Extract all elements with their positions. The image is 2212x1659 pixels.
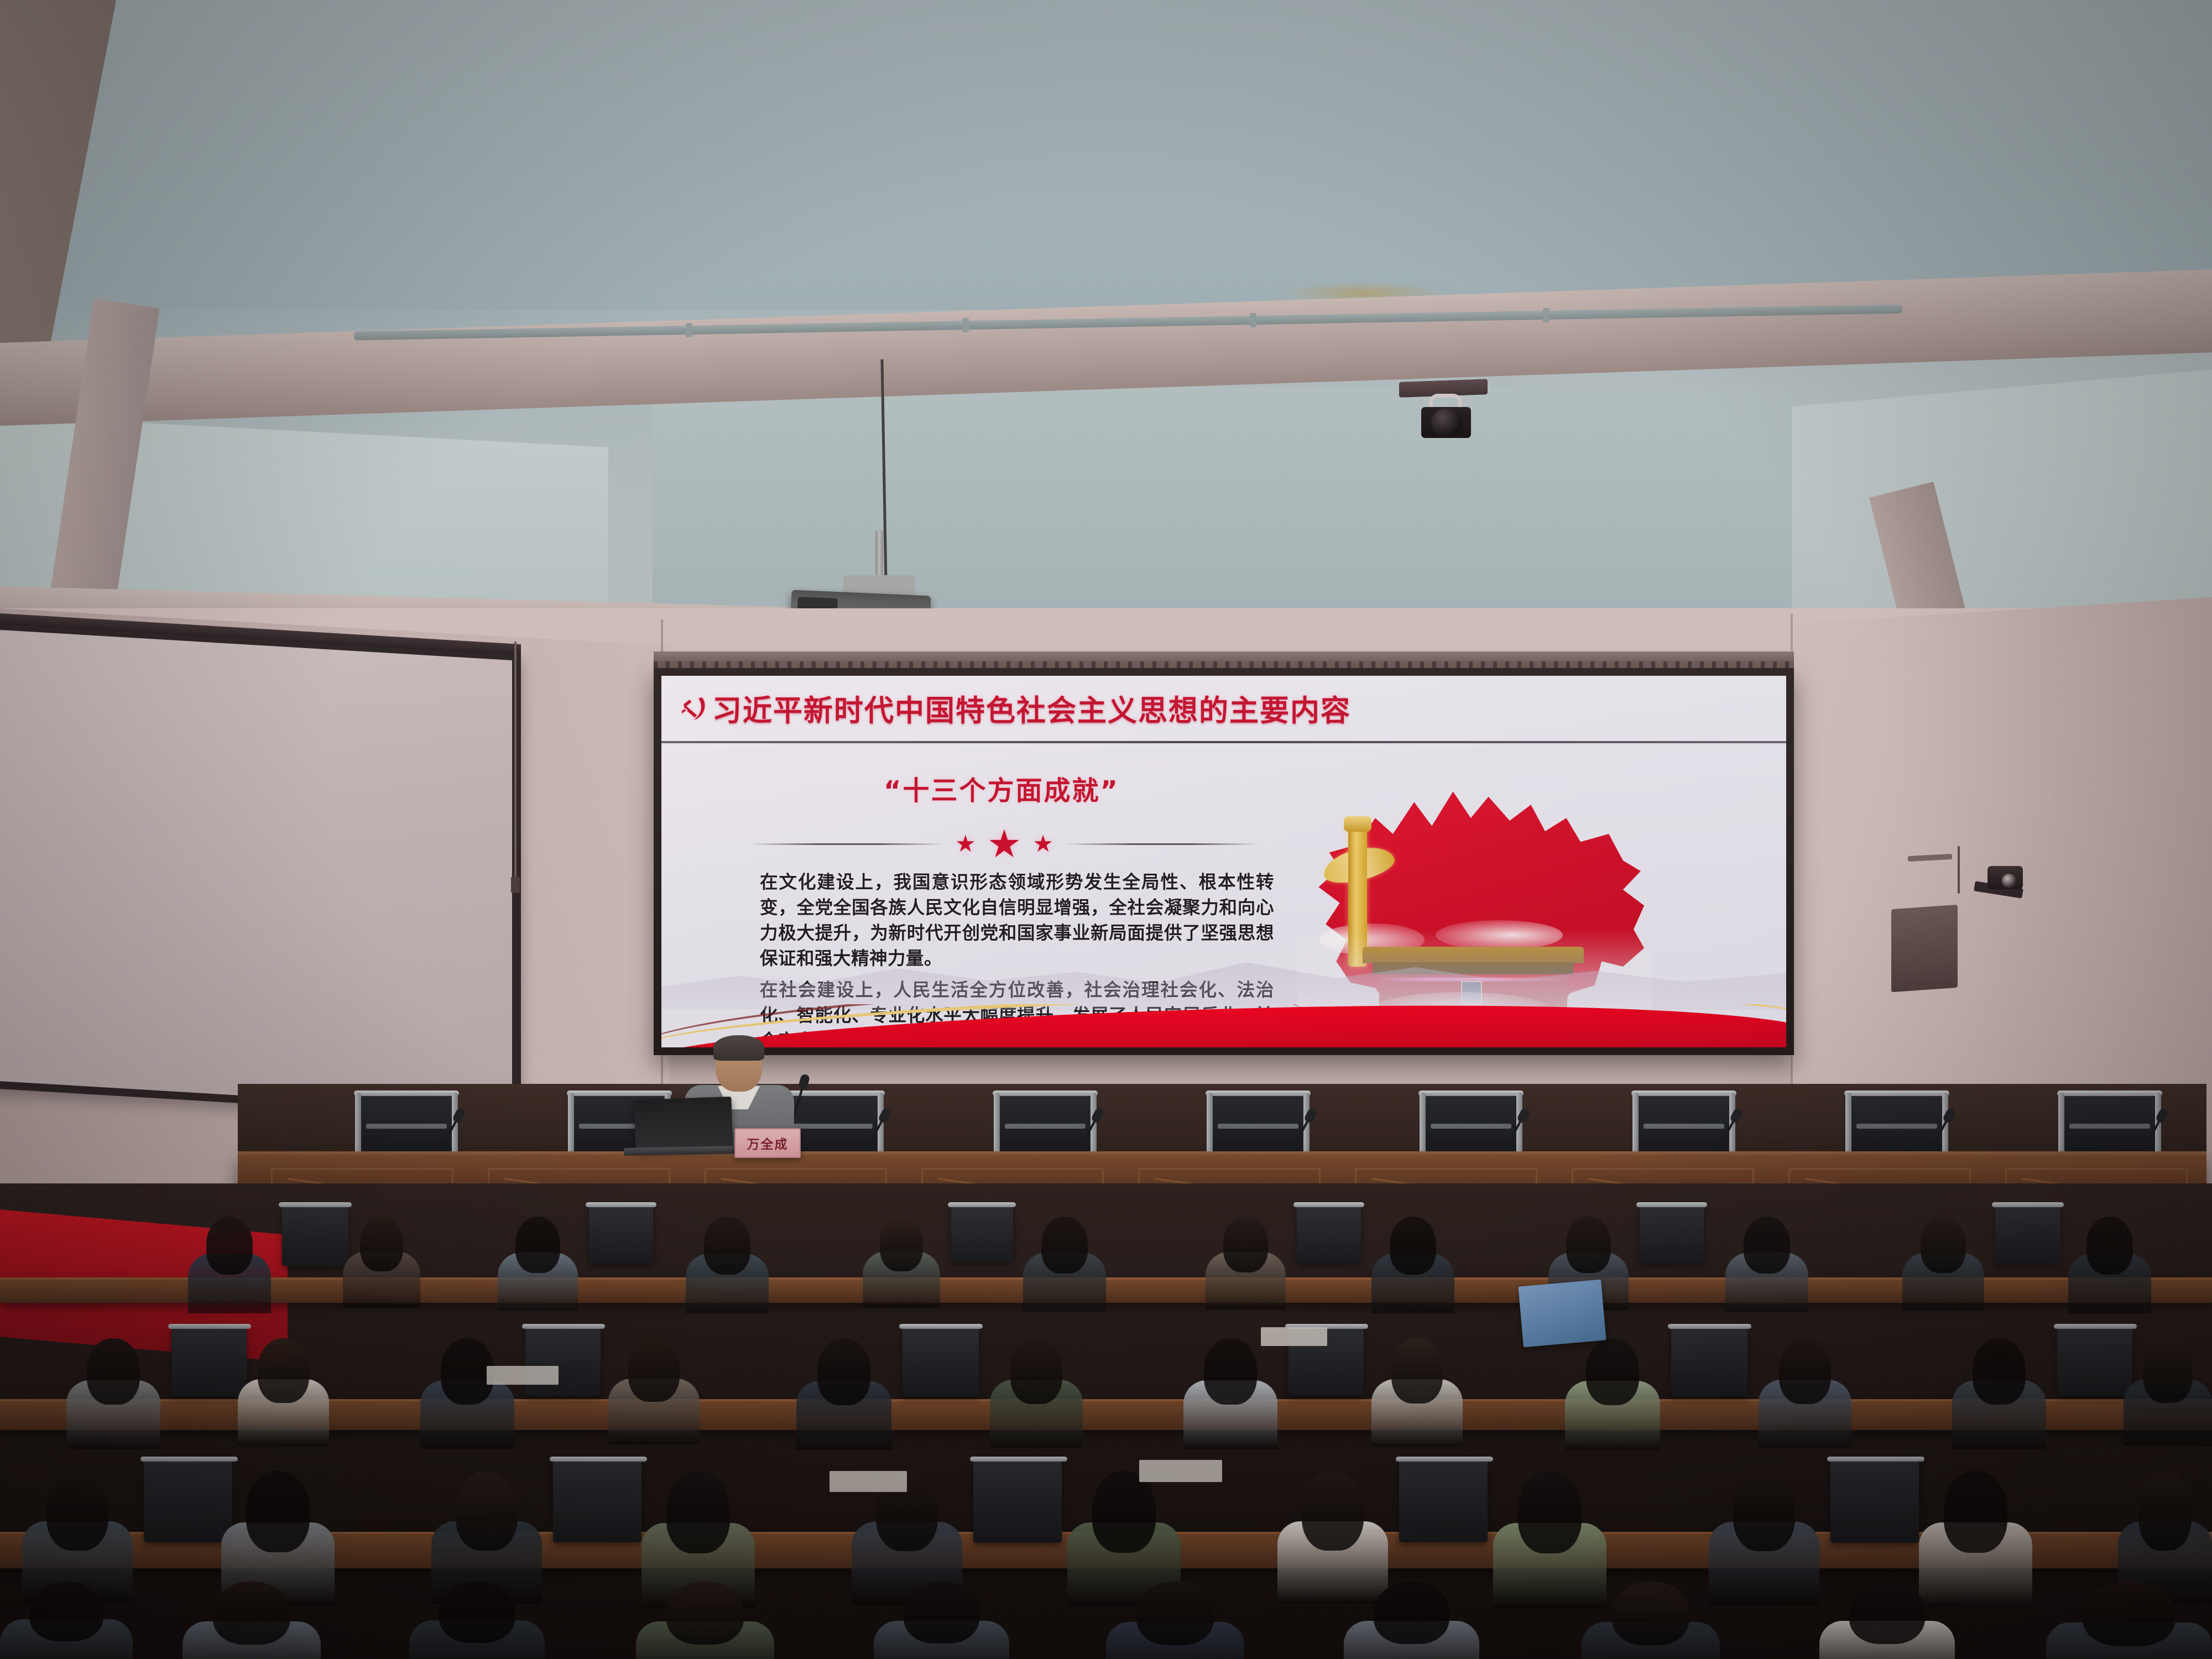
audience-member xyxy=(796,1338,891,1450)
audience-seat-bar xyxy=(168,1324,251,1329)
divider-line-left xyxy=(750,843,944,845)
chair-frame xyxy=(993,1091,1098,1096)
chair-back xyxy=(1851,1094,1943,1151)
audience-member-head xyxy=(1849,1582,1925,1644)
chair-frame xyxy=(1631,1091,1736,1096)
divider-line-right xyxy=(1065,843,1259,845)
audience-member-head xyxy=(1041,1217,1088,1274)
audience-seat-back[interactable] xyxy=(973,1460,1062,1543)
audience-member-head xyxy=(1779,1338,1831,1404)
audience-seat-bar xyxy=(970,1457,1067,1462)
audience-member-head xyxy=(1391,1338,1442,1404)
audience-member-head xyxy=(666,1582,744,1645)
audience-seat-bar xyxy=(899,1324,983,1329)
slide-title: 习近平新时代中国特色社会主义思想的主要内容 xyxy=(712,687,1351,729)
chair-band xyxy=(2069,1124,2150,1129)
audience-member-head xyxy=(258,1338,309,1403)
lecture-hall-scene: 习近平新时代中国特色社会主义思想的主要内容 “十三个方面成就” ★ ★ ★ 在文… xyxy=(0,0,2212,1659)
audience-member-head xyxy=(880,1217,923,1271)
audience-member-head xyxy=(904,1582,979,1644)
audience-member xyxy=(2124,1338,2212,1446)
presentation-slide[interactable]: 习近平新时代中国特色社会主义思想的主要内容 “十三个方面成就” ★ ★ ★ 在文… xyxy=(661,676,1786,1047)
audience-member xyxy=(238,1338,329,1446)
wall-vent xyxy=(1891,905,1958,992)
audience-seat-bar xyxy=(522,1324,605,1329)
audience-member xyxy=(409,1582,545,1659)
audience-member-head xyxy=(360,1217,403,1271)
chair-frame xyxy=(354,1091,459,1096)
audience-member-head xyxy=(1744,1217,1790,1274)
chair-back xyxy=(999,1094,1091,1151)
audience-member-head xyxy=(1586,1338,1639,1405)
paper-sheet xyxy=(487,1366,559,1385)
chair-band xyxy=(1856,1124,1937,1129)
audience-seat-back[interactable] xyxy=(525,1327,601,1396)
paper-sheet xyxy=(830,1471,907,1492)
audience-member-head xyxy=(1612,1582,1689,1645)
audience-laptop[interactable] xyxy=(1518,1280,1606,1348)
audience-member-head xyxy=(1092,1471,1156,1553)
wall-camera-lens-icon xyxy=(2002,874,2016,888)
slide-ribbon xyxy=(661,1004,1786,1047)
chair-post-left xyxy=(994,1093,1000,1154)
chair-back xyxy=(1425,1094,1517,1151)
chair-band xyxy=(1218,1124,1298,1129)
audience-member-head xyxy=(2143,1338,2193,1403)
audience-member xyxy=(1902,1217,1984,1311)
audience-member xyxy=(2046,1582,2212,1659)
chair-post-left xyxy=(355,1093,361,1154)
chair-back xyxy=(361,1094,452,1151)
chair-post-left xyxy=(568,1093,574,1154)
audience-member xyxy=(1725,1217,1808,1312)
audience-member-head xyxy=(1566,1217,1611,1273)
roll-down-projection-screen[interactable] xyxy=(0,624,521,1120)
audience-member xyxy=(1183,1338,1277,1449)
chair-band xyxy=(792,1124,873,1129)
audience-member-head xyxy=(704,1217,750,1275)
projection-screen-pull-handle[interactable] xyxy=(511,877,520,893)
audience-seat-bar xyxy=(1668,1324,1751,1329)
audience-member-head xyxy=(206,1217,253,1275)
audience-member-head xyxy=(1136,1582,1214,1645)
audience-seat-bar xyxy=(140,1457,238,1462)
audience-member-head xyxy=(2083,1582,2176,1646)
chair-frame xyxy=(567,1091,672,1096)
slide-subtitle: “十三个方面成就” xyxy=(744,769,1259,807)
chair-band xyxy=(1005,1124,1086,1129)
audience-seat-back[interactable] xyxy=(1640,1206,1704,1264)
audience-member-head xyxy=(441,1338,493,1405)
audience-member xyxy=(1819,1582,1955,1659)
star-small-left: ★ xyxy=(955,832,976,855)
audience-member-head xyxy=(1518,1471,1582,1553)
chair-band xyxy=(1431,1124,1511,1129)
name-placard-text: 万全成 xyxy=(747,1134,789,1152)
cpc-hammer-sickle-icon xyxy=(676,690,712,727)
audience-seat-back[interactable] xyxy=(1399,1460,1488,1542)
audience-seat-back[interactable] xyxy=(1995,1206,2060,1264)
audience-seat-back[interactable] xyxy=(171,1327,247,1396)
slide-header-rule xyxy=(661,741,1786,743)
audience-member xyxy=(636,1582,774,1659)
chair-frame xyxy=(1206,1091,1311,1096)
audience-member-head xyxy=(1733,1471,1795,1551)
audience-desk-row xyxy=(0,1399,2212,1430)
audience-member xyxy=(0,1582,133,1659)
audience-member-head xyxy=(817,1338,870,1405)
star-small-right: ★ xyxy=(1032,832,1053,855)
audience-member xyxy=(686,1217,769,1313)
audience-member-head xyxy=(1223,1217,1268,1272)
audience-seat-back[interactable] xyxy=(144,1460,232,1542)
chair-back xyxy=(2064,1094,2156,1151)
chair-frame xyxy=(1844,1091,1949,1096)
audience-member-head xyxy=(628,1338,679,1402)
slide-paragraph-1: 在文化建设上，我国意识形态领域形势发生全局性、根本性转变，全党全国各族人民文化自… xyxy=(760,869,1274,972)
audience-member-head xyxy=(1390,1217,1436,1275)
audience-member xyxy=(1371,1217,1454,1313)
audience-member-head xyxy=(515,1217,560,1273)
chair-frame xyxy=(1418,1091,1524,1096)
audience-member-head xyxy=(46,1471,108,1551)
audience-member-head xyxy=(213,1582,290,1645)
audience-seat-bar xyxy=(586,1202,656,1207)
audience-member xyxy=(1582,1582,1720,1659)
audience-seat-back[interactable] xyxy=(1671,1327,1747,1396)
chair-back xyxy=(1638,1094,1730,1151)
audience-seat-back[interactable] xyxy=(1830,1460,1919,1543)
star-divider: ★ ★ ★ xyxy=(750,830,1259,858)
projector-mount-rod xyxy=(875,531,883,578)
audience-member xyxy=(874,1582,1009,1659)
audience-member xyxy=(498,1217,578,1311)
audience-member xyxy=(1106,1582,1244,1659)
audience-member-head xyxy=(1204,1338,1256,1405)
audience-member xyxy=(420,1338,514,1449)
projection-screen-cord[interactable] xyxy=(514,641,517,879)
audience-member xyxy=(1709,1471,1819,1605)
audience-member-head xyxy=(1302,1471,1364,1551)
audience-seat-back[interactable] xyxy=(951,1206,1013,1262)
name-placard: 万全成 xyxy=(734,1128,801,1158)
audience-seat-back[interactable] xyxy=(2057,1327,2132,1396)
audience-member-head xyxy=(1010,1338,1062,1404)
wall-camera-wire xyxy=(1958,846,1960,894)
audience-seat-bar xyxy=(1396,1457,1493,1462)
audience-seat-back[interactable] xyxy=(282,1206,348,1266)
audience-member xyxy=(188,1217,271,1313)
audience-member-head xyxy=(29,1582,103,1641)
audience-seat-bar xyxy=(1293,1202,1364,1207)
audience-seat-back[interactable] xyxy=(1297,1206,1361,1263)
audience-seat-bar xyxy=(948,1202,1016,1207)
audience-member-head xyxy=(2086,1217,2133,1275)
chair-post-left xyxy=(1632,1093,1639,1154)
star-large-center: ★ xyxy=(987,825,1022,863)
slide-header: 习近平新时代中国特色社会主义思想的主要内容 xyxy=(661,676,1786,741)
audience-seat-bar xyxy=(1827,1457,1924,1462)
ceiling-soffit xyxy=(0,0,2212,310)
audience-desk-row xyxy=(0,1277,2212,1303)
audience-member xyxy=(990,1338,1083,1448)
audience-member-head xyxy=(1944,1471,2007,1553)
audience-member xyxy=(863,1217,940,1308)
audience-member-head xyxy=(439,1582,515,1643)
audience-seat-back[interactable] xyxy=(553,1460,641,1542)
chair-post-left xyxy=(1420,1093,1426,1154)
audience-member xyxy=(608,1338,700,1444)
audience-member-head xyxy=(1921,1217,1966,1273)
audience-seat-bar xyxy=(550,1457,647,1462)
audience-member xyxy=(2068,1217,2151,1313)
presenter-hair xyxy=(713,1035,764,1061)
audience-member xyxy=(1371,1338,1463,1447)
ceiling-panel-middle xyxy=(653,387,1792,619)
projection-screen-surface xyxy=(0,629,512,1112)
chair-post-left xyxy=(2058,1093,2064,1154)
audience-member xyxy=(1206,1217,1286,1310)
audience-member-head xyxy=(87,1338,139,1405)
chair-band xyxy=(366,1124,447,1129)
chair-back xyxy=(1212,1094,1304,1151)
paper-sheet xyxy=(1139,1460,1222,1482)
audience-member-head xyxy=(2138,1471,2191,1551)
audience-seat-back[interactable] xyxy=(902,1327,979,1396)
ceiling-camera-dome-icon xyxy=(1431,408,1462,437)
audience-member-head xyxy=(456,1471,518,1551)
chair-post-left xyxy=(1845,1093,1851,1154)
chair-frame xyxy=(2057,1091,2162,1096)
audience-member xyxy=(182,1582,321,1659)
audience-seat-back[interactable] xyxy=(589,1206,653,1264)
audience-member-head xyxy=(1374,1582,1449,1644)
huabiao-cap xyxy=(1344,816,1371,832)
presenter-laptop[interactable] xyxy=(634,1097,733,1151)
audience-seat-bar xyxy=(1992,1202,2064,1207)
chair-post-left xyxy=(1207,1093,1213,1154)
audience-member-head xyxy=(246,1471,310,1552)
audience-seat-bar xyxy=(279,1202,352,1207)
audience-member xyxy=(1952,1338,2046,1449)
audience-member xyxy=(1023,1217,1106,1312)
paper-sheet xyxy=(1261,1327,1327,1346)
audience-member-head xyxy=(666,1471,730,1553)
audience-member xyxy=(1759,1338,1851,1448)
audience-seat-bar xyxy=(1636,1202,1707,1207)
chair-band xyxy=(1644,1124,1724,1129)
audience-seat-bar xyxy=(2054,1324,2137,1329)
audience-member xyxy=(66,1338,160,1449)
audience-member xyxy=(343,1217,420,1308)
audience-member-head xyxy=(1973,1338,2025,1405)
audience-member xyxy=(1344,1582,1479,1659)
audience-member xyxy=(1565,1338,1660,1450)
